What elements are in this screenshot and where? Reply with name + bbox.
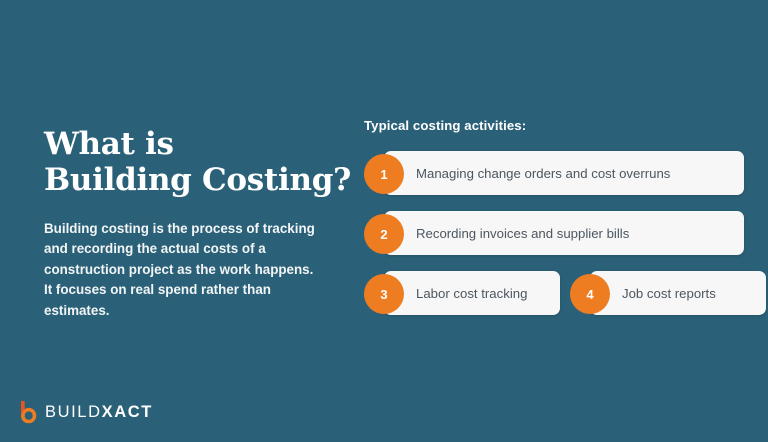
activity-label: Recording invoices and supplier bills bbox=[416, 226, 629, 241]
brand-word-xact: XACT bbox=[102, 403, 153, 421]
slide-canvas: What is Building Costing? Building costi… bbox=[0, 0, 768, 442]
activity-row-3: 3 Labor cost tracking 4 Job cost reports bbox=[364, 271, 746, 315]
list-item[interactable]: 2 Recording invoices and supplier bills bbox=[364, 211, 744, 255]
activity-card[interactable]: Recording invoices and supplier bills bbox=[384, 211, 744, 255]
left-content-column: What is Building Costing? Building costi… bbox=[44, 126, 344, 321]
page-title: What is Building Costing? bbox=[44, 126, 344, 199]
activity-number-badge: 2 bbox=[364, 214, 404, 254]
activity-label: Managing change orders and cost overruns bbox=[416, 166, 670, 181]
activity-number-badge: 1 bbox=[364, 154, 404, 194]
intro-paragraph: Building costing is the process of track… bbox=[44, 199, 316, 322]
list-item[interactable]: 1 Managing change orders and cost overru… bbox=[364, 151, 744, 195]
activity-number-badge: 4 bbox=[570, 274, 610, 314]
activity-label: Job cost reports bbox=[622, 286, 716, 301]
activity-number-badge: 3 bbox=[364, 274, 404, 314]
activity-row-1: 1 Managing change orders and cost overru… bbox=[364, 151, 746, 195]
buildxact-b-mark-icon bbox=[18, 400, 38, 424]
list-item[interactable]: 4 Job cost reports bbox=[570, 271, 766, 315]
list-item[interactable]: 3 Labor cost tracking bbox=[364, 271, 560, 315]
brand-wordmark: BUILDXACT bbox=[45, 404, 153, 421]
brand-word-build: BUILD bbox=[45, 403, 102, 421]
activities-heading: Typical costing activities: bbox=[364, 118, 746, 133]
brand-logo: BUILDXACT bbox=[18, 400, 153, 424]
activity-label: Labor cost tracking bbox=[416, 286, 527, 301]
activity-card[interactable]: Labor cost tracking bbox=[384, 271, 560, 315]
page-title-line-2: Building Costing? bbox=[44, 162, 344, 198]
right-content-column: Typical costing activities: 1 Managing c… bbox=[364, 118, 746, 315]
activity-card[interactable]: Managing change orders and cost overruns bbox=[384, 151, 744, 195]
activity-card[interactable]: Job cost reports bbox=[590, 271, 766, 315]
page-title-line-1: What is bbox=[44, 126, 344, 162]
activity-row-2: 2 Recording invoices and supplier bills bbox=[364, 211, 746, 255]
